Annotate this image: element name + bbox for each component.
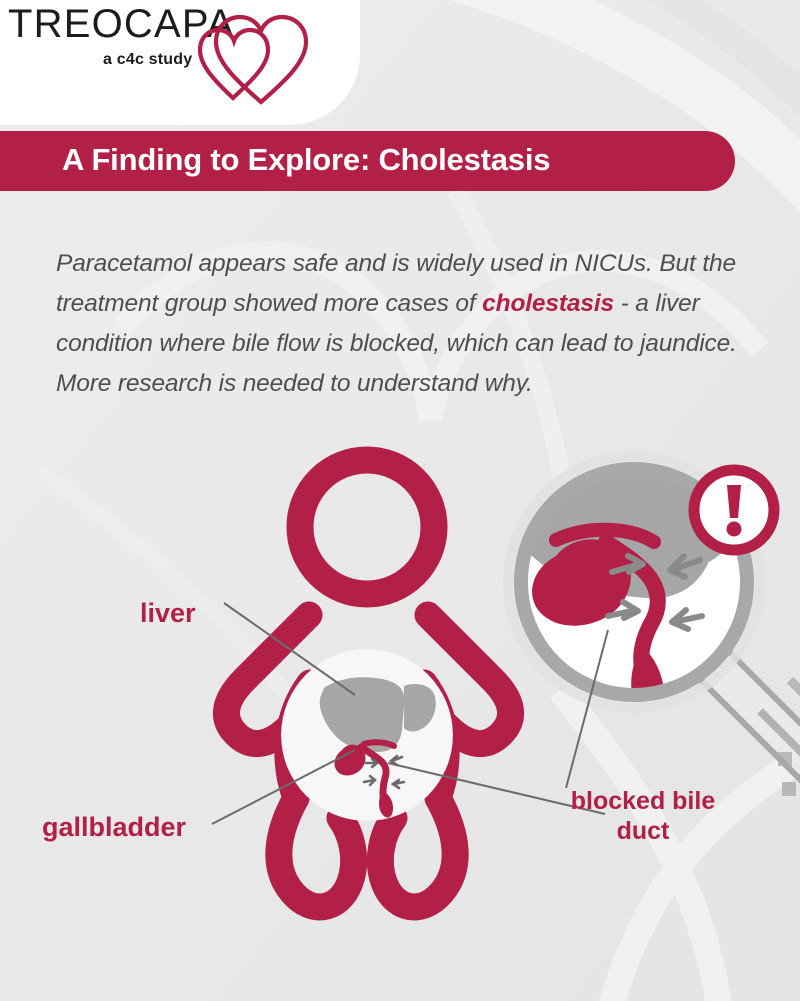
callout-label-bile-duct-line1: blocked bile	[548, 786, 738, 816]
infographic-poster: TREOCAPA a c4c study A Finding to Explor…	[0, 0, 800, 1001]
page-title: A Finding to Explore: Cholestasis	[62, 142, 722, 178]
double-heart-outline-icon	[198, 0, 318, 110]
logo-tagline: a c4c study	[103, 51, 192, 69]
highlight-term: cholestasis	[482, 290, 614, 317]
illustration-group	[0, 430, 800, 1001]
callout-label-bile-duct-line2: duct	[548, 816, 738, 846]
alert-exclamation-badge-icon	[689, 465, 779, 555]
callout-label-bile-duct: blocked bile duct	[548, 786, 738, 846]
logo: TREOCAPA a c4c study	[0, 0, 320, 110]
baby-torso-organs	[281, 649, 453, 821]
callout-label-gallbladder: gallbladder	[42, 812, 186, 843]
callout-label-liver: liver	[140, 598, 196, 629]
body-paragraph: Paracetamol appears safe and is widely u…	[56, 244, 756, 404]
logo-plaque: TREOCAPA a c4c study	[0, 0, 360, 125]
